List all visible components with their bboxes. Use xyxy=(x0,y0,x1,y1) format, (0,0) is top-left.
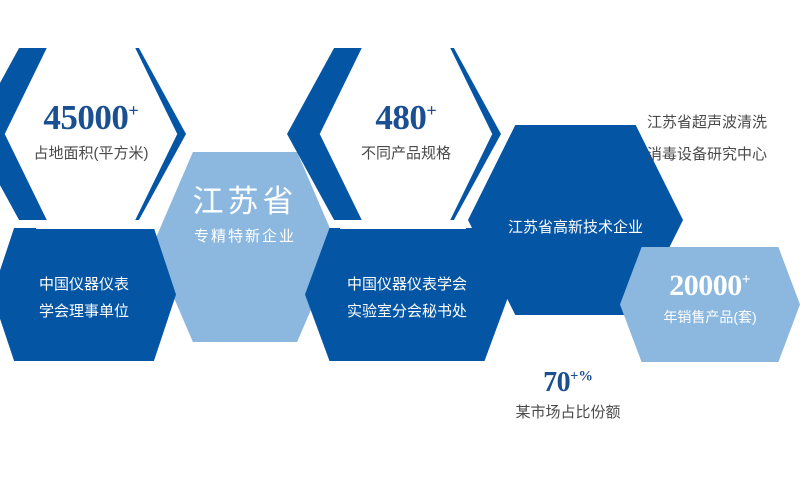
badge-lab-branch-secretariat-line2: 实验室分会秘书处 xyxy=(305,304,509,320)
label-high-tech-enterprise: 江苏省高新技术企业 xyxy=(468,216,683,237)
brand-block: 江苏省 专精特新企业 xyxy=(152,186,338,245)
brand-title: 江苏省 xyxy=(152,186,338,219)
label-research-center-line1: 江苏省超声波清洗 xyxy=(647,111,767,132)
stat-product-specs: 480+ 不同产品规格 xyxy=(318,100,494,162)
stat-annual-sales-caption: 年销售产品(套) xyxy=(620,310,800,325)
stat-market-share-value-row: 70+% xyxy=(478,368,658,397)
stat-product-specs-value: 480 xyxy=(375,98,426,137)
infographic-canvas: 45000+ 占地面积(平方米) 江苏省 专精特新企业 480+ 不同产品规格 … xyxy=(0,0,809,487)
label-research-center: 江苏省超声波清洗 消毒设备研究中心 xyxy=(647,111,767,164)
brand-subtitle: 专精特新企业 xyxy=(152,230,338,246)
badge-lab-branch-secretariat-line1: 中国仪器仪表学会 xyxy=(305,277,509,293)
stat-annual-sales-value: 20000 xyxy=(669,269,742,302)
stat-land-area: 45000+ 占地面积(平方米) xyxy=(3,100,179,162)
stat-land-area-value: 45000 xyxy=(43,98,128,137)
stat-land-area-value-row: 45000+ xyxy=(3,100,179,137)
stat-product-specs-caption: 不同产品规格 xyxy=(318,146,494,162)
stat-market-share-suffix: +% xyxy=(570,369,593,385)
stat-market-share: 70+% 某市场占比份额 xyxy=(478,368,658,421)
badge-instrument-society-director-line2: 学会理事单位 xyxy=(0,304,176,320)
stat-annual-sales: 20000+ 年销售产品(套) xyxy=(620,270,800,324)
divider-center xyxy=(340,220,466,229)
stat-land-area-suffix: + xyxy=(128,100,138,120)
stat-land-area-caption: 占地面积(平方米) xyxy=(3,146,179,162)
stat-product-specs-suffix: + xyxy=(426,100,436,120)
badge-instrument-society-director-line1: 中国仪器仪表 xyxy=(0,277,176,293)
divider-left xyxy=(36,220,154,229)
stat-market-share-caption: 某市场占比份额 xyxy=(478,405,658,421)
label-research-center-line2: 消毒设备研究中心 xyxy=(647,143,767,164)
badge-instrument-society-director: 中国仪器仪表 学会理事单位 xyxy=(0,277,176,320)
stat-annual-sales-value-row: 20000+ xyxy=(620,270,800,302)
stat-annual-sales-suffix: + xyxy=(742,271,751,288)
badge-lab-branch-secretariat: 中国仪器仪表学会 实验室分会秘书处 xyxy=(305,277,509,320)
stat-product-specs-value-row: 480+ xyxy=(318,100,494,137)
stat-market-share-value: 70 xyxy=(543,367,570,398)
